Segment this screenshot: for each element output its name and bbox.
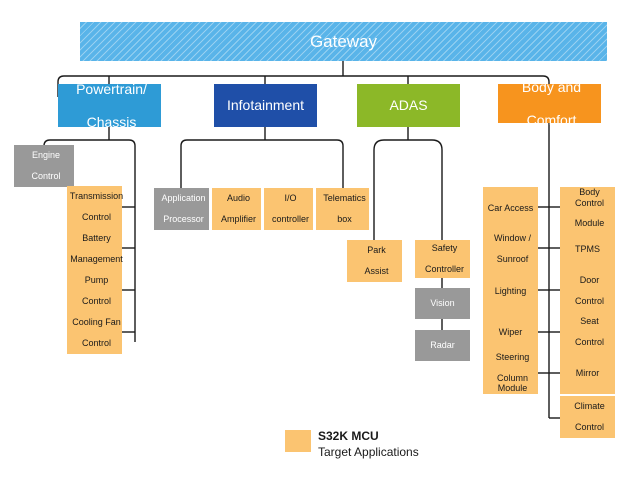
seat-line1: Seat [562,316,617,326]
node-application-processor-label: Application Processor [154,193,209,224]
node-steering-column-module-label: Steering Column Module [483,352,538,393]
node-mirror[interactable]: Mirror [560,352,615,394]
domain-label-body-line2: Comfort [500,112,603,128]
legend-subtitle: Target Applications [318,445,419,459]
node-window-sunroof[interactable]: Window / Sunroof [483,228,538,270]
domain-label-powertrain-line1: Powertrain/ [60,81,163,97]
climate-line2: Control [562,422,617,432]
node-door-control[interactable]: Door Control [560,270,615,312]
node-vision-label: Vision [415,298,470,308]
safety-line2: Controller [417,264,472,274]
node-steering-column-module[interactable]: Steering Column Module [483,352,538,394]
window-line1: Window / [485,233,540,243]
node-radar-label: Radar [415,340,470,350]
steering-line2: Column Module [485,373,540,394]
domain-label-powertrain: Powertrain/ Chassis [58,81,161,129]
node-audio-amplifier-label: Audio Amplifier [212,193,261,224]
domain-box-adas[interactable]: ADAS [357,84,460,127]
app-proc-line1: Application [156,193,211,203]
adas-bus [374,140,442,240]
domain-label-body-line1: Body and [500,79,603,95]
transmission-line1: Transmission [67,191,126,201]
cooling-fan-line1: Cooling Fan [69,317,124,327]
node-tpms-label: TPMS [560,244,615,254]
node-transmission-control[interactable]: Transmission Control [67,186,122,228]
node-radar[interactable]: Radar [415,330,470,361]
node-mirror-label: Mirror [560,368,615,378]
io-ctrl-line1: I/O [266,193,315,203]
telematics-line1: Telematics [318,193,371,203]
engine-control-line2: Control [16,171,76,181]
node-cooling-fan-control[interactable]: Cooling Fan Control [67,312,122,354]
domain-box-infotainment[interactable]: Infotainment [214,84,317,127]
audio-amp-line1: Audio [214,193,263,203]
park-assist-line2: Assist [349,266,404,276]
node-safety-controller[interactable]: Safety Controller [415,240,470,278]
pump-line1: Pump [69,275,124,285]
node-pump-control-label: Pump Control [67,275,122,306]
node-lighting[interactable]: Lighting [483,270,538,312]
node-audio-amplifier[interactable]: Audio Amplifier [212,188,261,230]
gateway-box[interactable]: Gateway [80,22,607,61]
node-lighting-label: Lighting [483,286,538,296]
node-car-access[interactable]: Car Access [483,187,538,229]
bcm-line1: Body Control [562,187,617,208]
domain-label-body: Body and Comfort [498,79,601,127]
node-cooling-fan-control-label: Cooling Fan Control [67,317,122,348]
diagram-canvas: Gateway Powertrain/ Chassis Infotainment… [0,0,642,485]
battery-line1: Battery [67,233,126,243]
domain-label-powertrain-line2: Chassis [60,114,163,130]
app-proc-line2: Processor [156,214,211,224]
domain-label-adas: ADAS [357,97,460,113]
node-wiper[interactable]: Wiper [483,311,538,353]
node-io-controller-label: I/O controller [264,193,313,224]
node-engine-control[interactable]: Engine Control [14,145,74,187]
seat-line2: Control [562,337,617,347]
park-assist-line1: Park [349,245,404,255]
door-line2: Control [562,296,617,306]
io-ctrl-line2: controller [266,214,315,224]
node-telematics-box-label: Telematics box [316,193,369,224]
pump-line2: Control [69,296,124,306]
node-io-controller[interactable]: I/O controller [264,188,313,230]
node-application-processor[interactable]: Application Processor [154,188,209,230]
node-climate-control-label: Climate Control [560,401,615,432]
legend-title: S32K MCU [318,429,379,443]
gateway-label: Gateway [80,32,607,52]
steering-line1: Steering [485,352,540,362]
node-seat-control[interactable]: Seat Control [560,311,615,353]
node-window-sunroof-label: Window / Sunroof [483,233,538,264]
node-door-control-label: Door Control [560,275,615,306]
door-line1: Door [562,275,617,285]
node-safety-controller-label: Safety Controller [415,243,470,274]
node-wiper-label: Wiper [483,327,538,337]
safety-line1: Safety [417,243,472,253]
node-seat-control-label: Seat Control [560,316,615,347]
window-line2: Sunroof [485,254,540,264]
battery-line2: Management [67,254,126,264]
node-park-assist[interactable]: Park Assist [347,240,402,282]
cooling-fan-line2: Control [69,338,124,348]
transmission-line2: Control [67,212,126,222]
node-telematics-box[interactable]: Telematics box [316,188,369,230]
node-engine-control-label: Engine Control [14,150,74,181]
domain-box-powertrain[interactable]: Powertrain/ Chassis [58,84,161,127]
node-body-control-module-label: Body Control Module [560,187,615,228]
node-battery-management[interactable]: Battery Management [67,228,122,270]
audio-amp-line2: Amplifier [214,214,263,224]
node-pump-control[interactable]: Pump Control [67,270,122,312]
node-tpms[interactable]: TPMS [560,228,615,270]
domain-box-body-and-comfort[interactable]: Body and Comfort [498,84,601,123]
engine-control-line1: Engine [16,150,76,160]
climate-line1: Climate [562,401,617,411]
domain-label-infotainment: Infotainment [214,97,317,113]
infotainment-bus [181,140,343,188]
node-park-assist-label: Park Assist [347,245,402,276]
node-vision[interactable]: Vision [415,288,470,319]
node-battery-management-label: Battery Management [65,233,124,264]
node-car-access-label: Car Access [483,203,538,213]
legend-color-swatch [285,430,311,452]
node-climate-control[interactable]: Climate Control [560,396,615,438]
telematics-line2: box [318,214,371,224]
node-transmission-control-label: Transmission Control [65,191,124,222]
node-body-control-module[interactable]: Body Control Module [560,187,615,229]
